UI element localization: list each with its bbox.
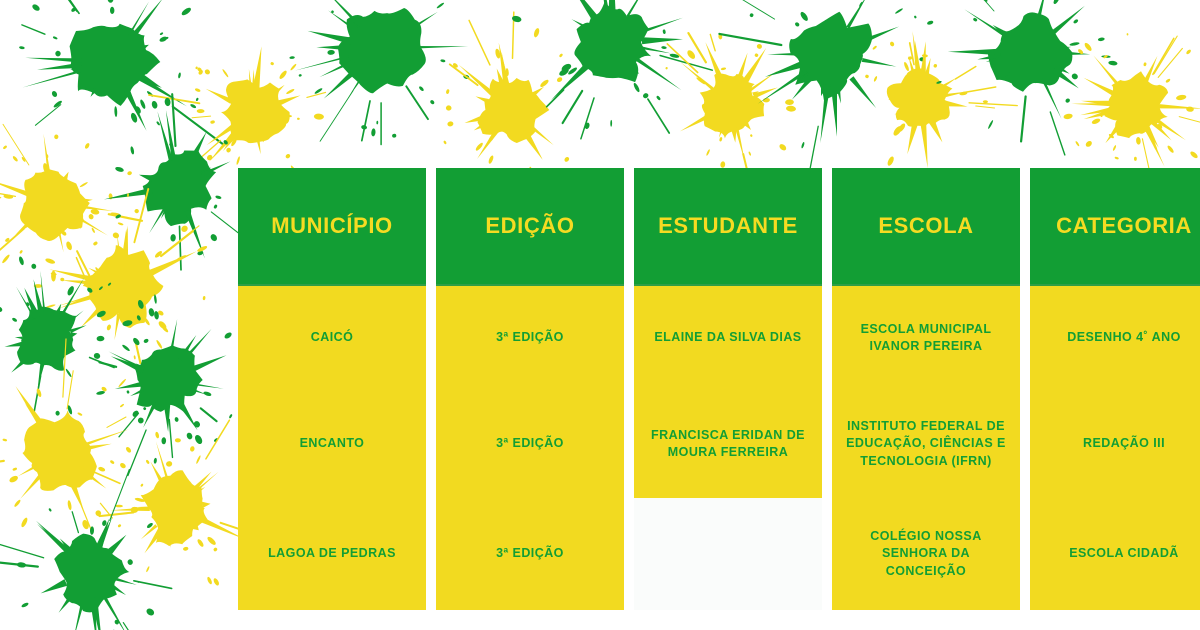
cell-municipio: LAGOA DE PEDRAS [238, 498, 426, 610]
cell-municipio: CAICÓ [238, 286, 426, 390]
cell-value: 3ª EDIÇÃO [496, 329, 564, 346]
cell-value: FRANCISCA ERIDAN DE MOURA FERREIRA [644, 427, 812, 462]
cell-categoria: DESENHO 4˚ ANO [1030, 286, 1200, 390]
column-header-edicao: EDIÇÃO [436, 168, 624, 286]
cell-edicao: 3ª EDIÇÃO [436, 498, 624, 610]
cell-edicao: 3ª EDIÇÃO [436, 286, 624, 390]
column-header-label: CATEGORIA [1056, 214, 1192, 238]
column-header-estudante: ESTUDANTE [634, 168, 822, 286]
cell-value: 3ª EDIÇÃO [496, 545, 564, 562]
cell-value: ENCANTO [300, 435, 365, 452]
cell-escola: ESCOLA MUNICIPAL IVANOR PEREIRA [832, 286, 1020, 390]
cell-value: COLÉGIO NOSSA SENHORA DA CONCEIÇÃO [842, 528, 1010, 580]
cell-value: REDAÇÃO III [1083, 435, 1165, 452]
cell-municipio: ENCANTO [238, 390, 426, 498]
column-header-label: ESCOLA [878, 214, 973, 238]
cell-value: ESCOLA CIDADÃ [1069, 545, 1179, 562]
table-row: LAGOA DE PEDRAS 3ª EDIÇÃO COLÉGIO NOSSA … [238, 498, 1200, 610]
cell-escola: INSTITUTO FEDERAL DE EDUCAÇÃO, CIÊNCIAS … [832, 390, 1020, 498]
cell-value: ELAINE DA SILVA DIAS [654, 329, 801, 346]
cell-value: CAICÓ [311, 329, 354, 346]
column-header-escola: ESCOLA [832, 168, 1020, 286]
cell-value: ESCOLA MUNICIPAL IVANOR PEREIRA [842, 321, 1010, 356]
table-row: CAICÓ 3ª EDIÇÃO ELAINE DA SILVA DIAS ESC… [238, 286, 1200, 390]
cell-categoria: REDAÇÃO III [1030, 390, 1200, 498]
cell-edicao: 3ª EDIÇÃO [436, 390, 624, 498]
cell-escola: COLÉGIO NOSSA SENHORA DA CONCEIÇÃO [832, 498, 1020, 610]
table-row: ENCANTO 3ª EDIÇÃO FRANCISCA ERIDAN DE MO… [238, 390, 1200, 498]
cell-estudante: FRANCISCA ERIDAN DE MOURA FERREIRA [634, 390, 822, 498]
column-header-label: MUNICÍPIO [271, 214, 393, 238]
cell-estudante [634, 498, 822, 610]
column-header-categoria: CATEGORIA [1030, 168, 1200, 286]
cell-categoria: ESCOLA CIDADÃ [1030, 498, 1200, 610]
cell-estudante: ELAINE DA SILVA DIAS [634, 286, 822, 390]
cell-value: LAGOA DE PEDRAS [268, 545, 396, 562]
column-header-label: ESTUDANTE [658, 214, 798, 238]
poster-canvas: MUNICÍPIO EDIÇÃO ESTUDANTE ESCOLA CATEGO… [0, 0, 1200, 630]
results-table: MUNICÍPIO EDIÇÃO ESTUDANTE ESCOLA CATEGO… [238, 168, 1200, 610]
cell-value: DESENHO 4˚ ANO [1067, 329, 1181, 346]
table-header-row: MUNICÍPIO EDIÇÃO ESTUDANTE ESCOLA CATEGO… [238, 168, 1200, 286]
column-header-label: EDIÇÃO [485, 214, 574, 238]
column-header-municipio: MUNICÍPIO [238, 168, 426, 286]
cell-value: INSTITUTO FEDERAL DE EDUCAÇÃO, CIÊNCIAS … [842, 418, 1010, 470]
cell-value: 3ª EDIÇÃO [496, 435, 564, 452]
